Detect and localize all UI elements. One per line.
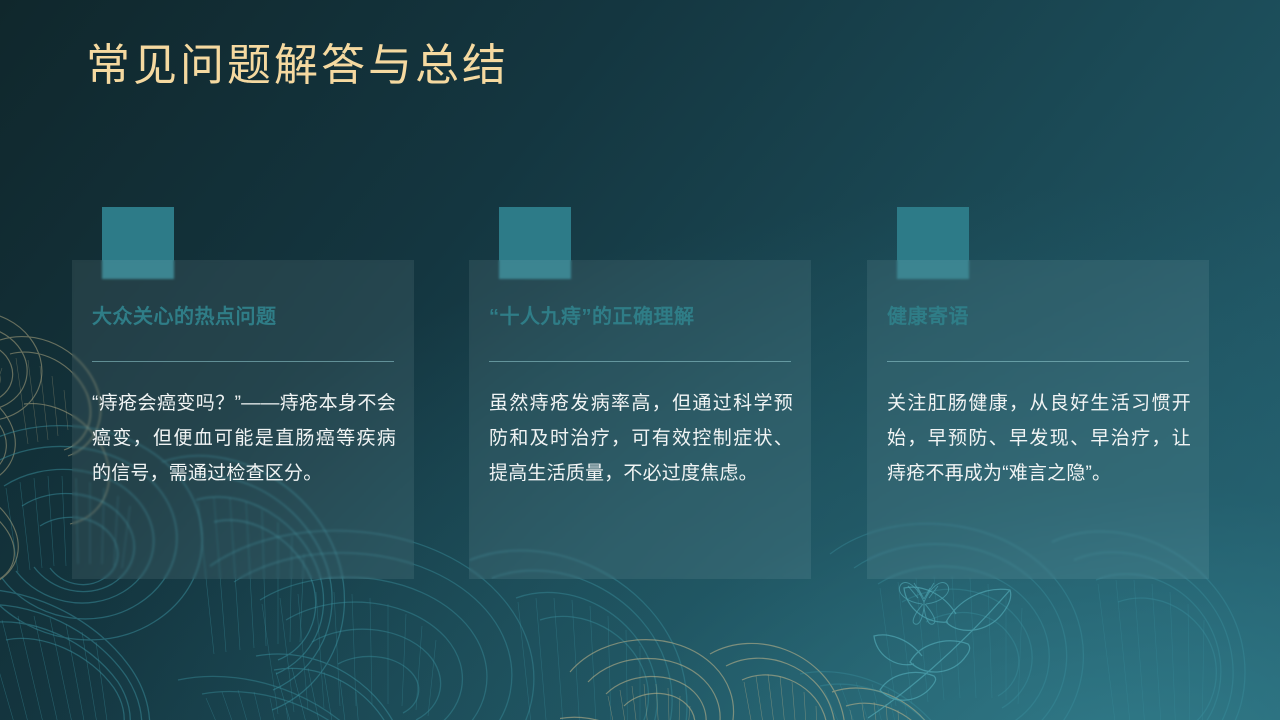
faq-card-text: 关注肛肠健康，从良好生活习惯开始，早预防、早发现、早治疗，让痔疮不再成为“难言之…	[887, 386, 1191, 491]
faq-card[interactable]: “十人九痔”的正确理解 虽然痔疮发病率高，但通过科学预防和及时治疗，可有效控制症…	[469, 207, 811, 579]
faq-card-body: “十人九痔”的正确理解 虽然痔疮发病率高，但通过科学预防和及时治疗，可有效控制症…	[469, 260, 811, 579]
faq-card[interactable]: 大众关心的热点问题 “痔疮会癌变吗？”——痔疮本身不会癌变，但便血可能是直肠癌等…	[72, 207, 414, 579]
faq-card-heading: 大众关心的热点问题	[92, 304, 398, 330]
faq-card-divider	[887, 361, 1189, 362]
faq-card[interactable]: 健康寄语 关注肛肠健康，从良好生活习惯开始，早预防、早发现、早治疗，让痔疮不再成…	[867, 207, 1209, 579]
faq-card-text: 虽然痔疮发病率高，但通过科学预防和及时治疗，可有效控制症状、提高生活质量，不必过…	[489, 386, 793, 491]
faq-card-body: 大众关心的热点问题 “痔疮会癌变吗？”——痔疮本身不会癌变，但便血可能是直肠癌等…	[72, 260, 414, 579]
faq-card-body: 健康寄语 关注肛肠健康，从良好生活习惯开始，早预防、早发现、早治疗，让痔疮不再成…	[867, 260, 1209, 579]
butterfly-icon	[898, 574, 950, 626]
slide-title: 常见问题解答与总结	[86, 40, 509, 92]
faq-card-divider	[489, 361, 791, 362]
faq-card-heading: 健康寄语	[887, 304, 1193, 330]
faq-card-text: “痔疮会癌变吗？”——痔疮本身不会癌变，但便血可能是直肠癌等疾病的信号，需通过检…	[92, 386, 396, 491]
faq-card-heading: “十人九痔”的正确理解	[489, 304, 795, 330]
peony-line-art-gold-center-icon	[560, 570, 980, 720]
faq-card-divider	[92, 361, 394, 362]
faq-card-group: 大众关心的热点问题 “痔疮会癌变吗？”——痔疮本身不会癌变，但便血可能是直肠癌等…	[72, 207, 1208, 579]
slide-canvas: 常见问题解答与总结 大众关心的热点问题 “痔疮会癌变吗？”——痔疮本身不会癌变，…	[0, 0, 1280, 720]
leaf-sprig-icon	[860, 556, 1050, 720]
